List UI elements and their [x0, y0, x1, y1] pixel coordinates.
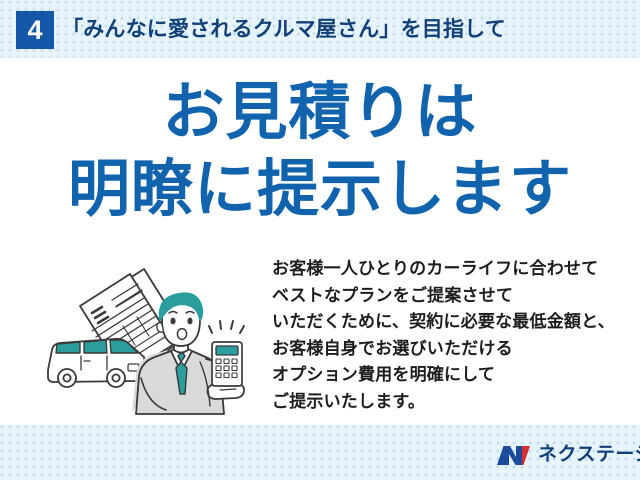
body-line-3: いただくために、契約に必要な最低金額と、: [272, 309, 628, 336]
van-illustration: [48, 339, 146, 387]
header-title: 「みんなに愛されるクルマ屋さん」を目指して: [62, 13, 506, 47]
nexstage-logo-text: ネクステージ: [538, 444, 640, 466]
body-line-5: オプション費用を明確にして: [272, 362, 628, 389]
headline-line-1: お見積りは: [0, 78, 640, 147]
promo-poster: 4 「みんなに愛されるクルマ屋さん」を目指して お見積りは 明瞭に提示します: [0, 0, 640, 480]
body-line-1: お客様一人ひとりのカーライフに合わせて: [272, 256, 628, 283]
headline-line-2: 明瞭に提示します: [0, 155, 640, 224]
calculator-icon: [212, 342, 242, 386]
illustration-salesman-with-estimate: [40, 258, 270, 418]
section-number-badge: 4: [16, 11, 54, 49]
body-line-2: ベストなプランをご提案させて: [272, 283, 628, 310]
headline: お見積りは 明瞭に提示します: [0, 78, 640, 225]
sparkle-icon: [209, 321, 244, 333]
body-line-4: お客様自身でお選びいただける: [272, 336, 628, 363]
body-line-6: ご提示いたします。: [272, 389, 628, 416]
nexstage-logo: ネクステージ: [497, 443, 640, 467]
nexstage-n-mark-icon: [497, 444, 531, 466]
body-copy: お客様一人ひとりのカーライフに合わせて ベストなプランをご提案させて いただくた…: [272, 256, 628, 415]
